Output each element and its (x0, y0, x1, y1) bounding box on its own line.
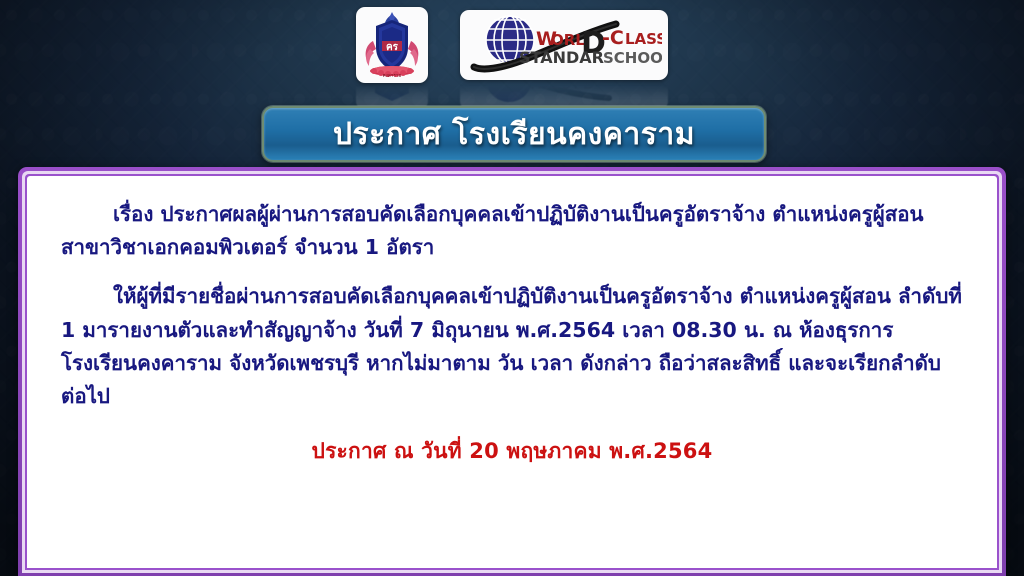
page-title: ประกาศ โรงเรียนคงคาราม (333, 111, 695, 158)
wcss-line1-lass: LASS (625, 30, 662, 48)
world-class-standard-school-logo-icon: W ORL D -C LASS STANDAR SCHOOL (466, 13, 662, 77)
announcement-card: เรื่อง ประกาศผลผู้ผ่านการสอบคัดเลือกบุคค… (18, 167, 1006, 576)
school-crest-icon: คร คงคาราม (361, 11, 423, 79)
announcement-card-border-purple: เรื่อง ประกาศผลผู้ผ่านการสอบคัดเลือกบุคค… (25, 174, 999, 570)
svg-text:คงคาราม: คงคาราม (383, 73, 402, 79)
announcement-paper: เรื่อง ประกาศผลผู้ผ่านการสอบคัดเลือกบุคค… (27, 176, 997, 568)
wcss-line2-school: SCHOOL (603, 49, 662, 67)
svg-text:คร: คร (386, 42, 399, 53)
wcss-line2-standar: STANDAR (519, 48, 604, 67)
announcement-slide: ค.ร. WORLD STANDARD (0, 0, 1024, 576)
title-banner: ประกาศ โรงเรียนคงคาราม (262, 106, 766, 162)
announcement-paragraph-2: ให้ผู้ที่มีรายชื่อผ่านการสอบคัดเลือกบุคค… (61, 280, 963, 413)
announcement-footer-date: ประกาศ ณ วันที่ 20 พฤษภาคม พ.ศ.2564 (61, 435, 963, 468)
announcement-card-border-light: เรื่อง ประกาศผลผู้ผ่านการสอบคัดเลือกบุคค… (22, 171, 1002, 573)
school-crest-logo: คร คงคาราม (356, 7, 428, 83)
announcement-paragraph-1: เรื่อง ประกาศผลผู้ผ่านการสอบคัดเลือกบุคค… (61, 198, 963, 264)
wcss-logo: W ORL D -C LASS STANDAR SCHOOL (460, 10, 668, 80)
logo-row: คร คงคาราม (0, 4, 1024, 86)
wcss-line1-cdash: -C (602, 27, 624, 49)
